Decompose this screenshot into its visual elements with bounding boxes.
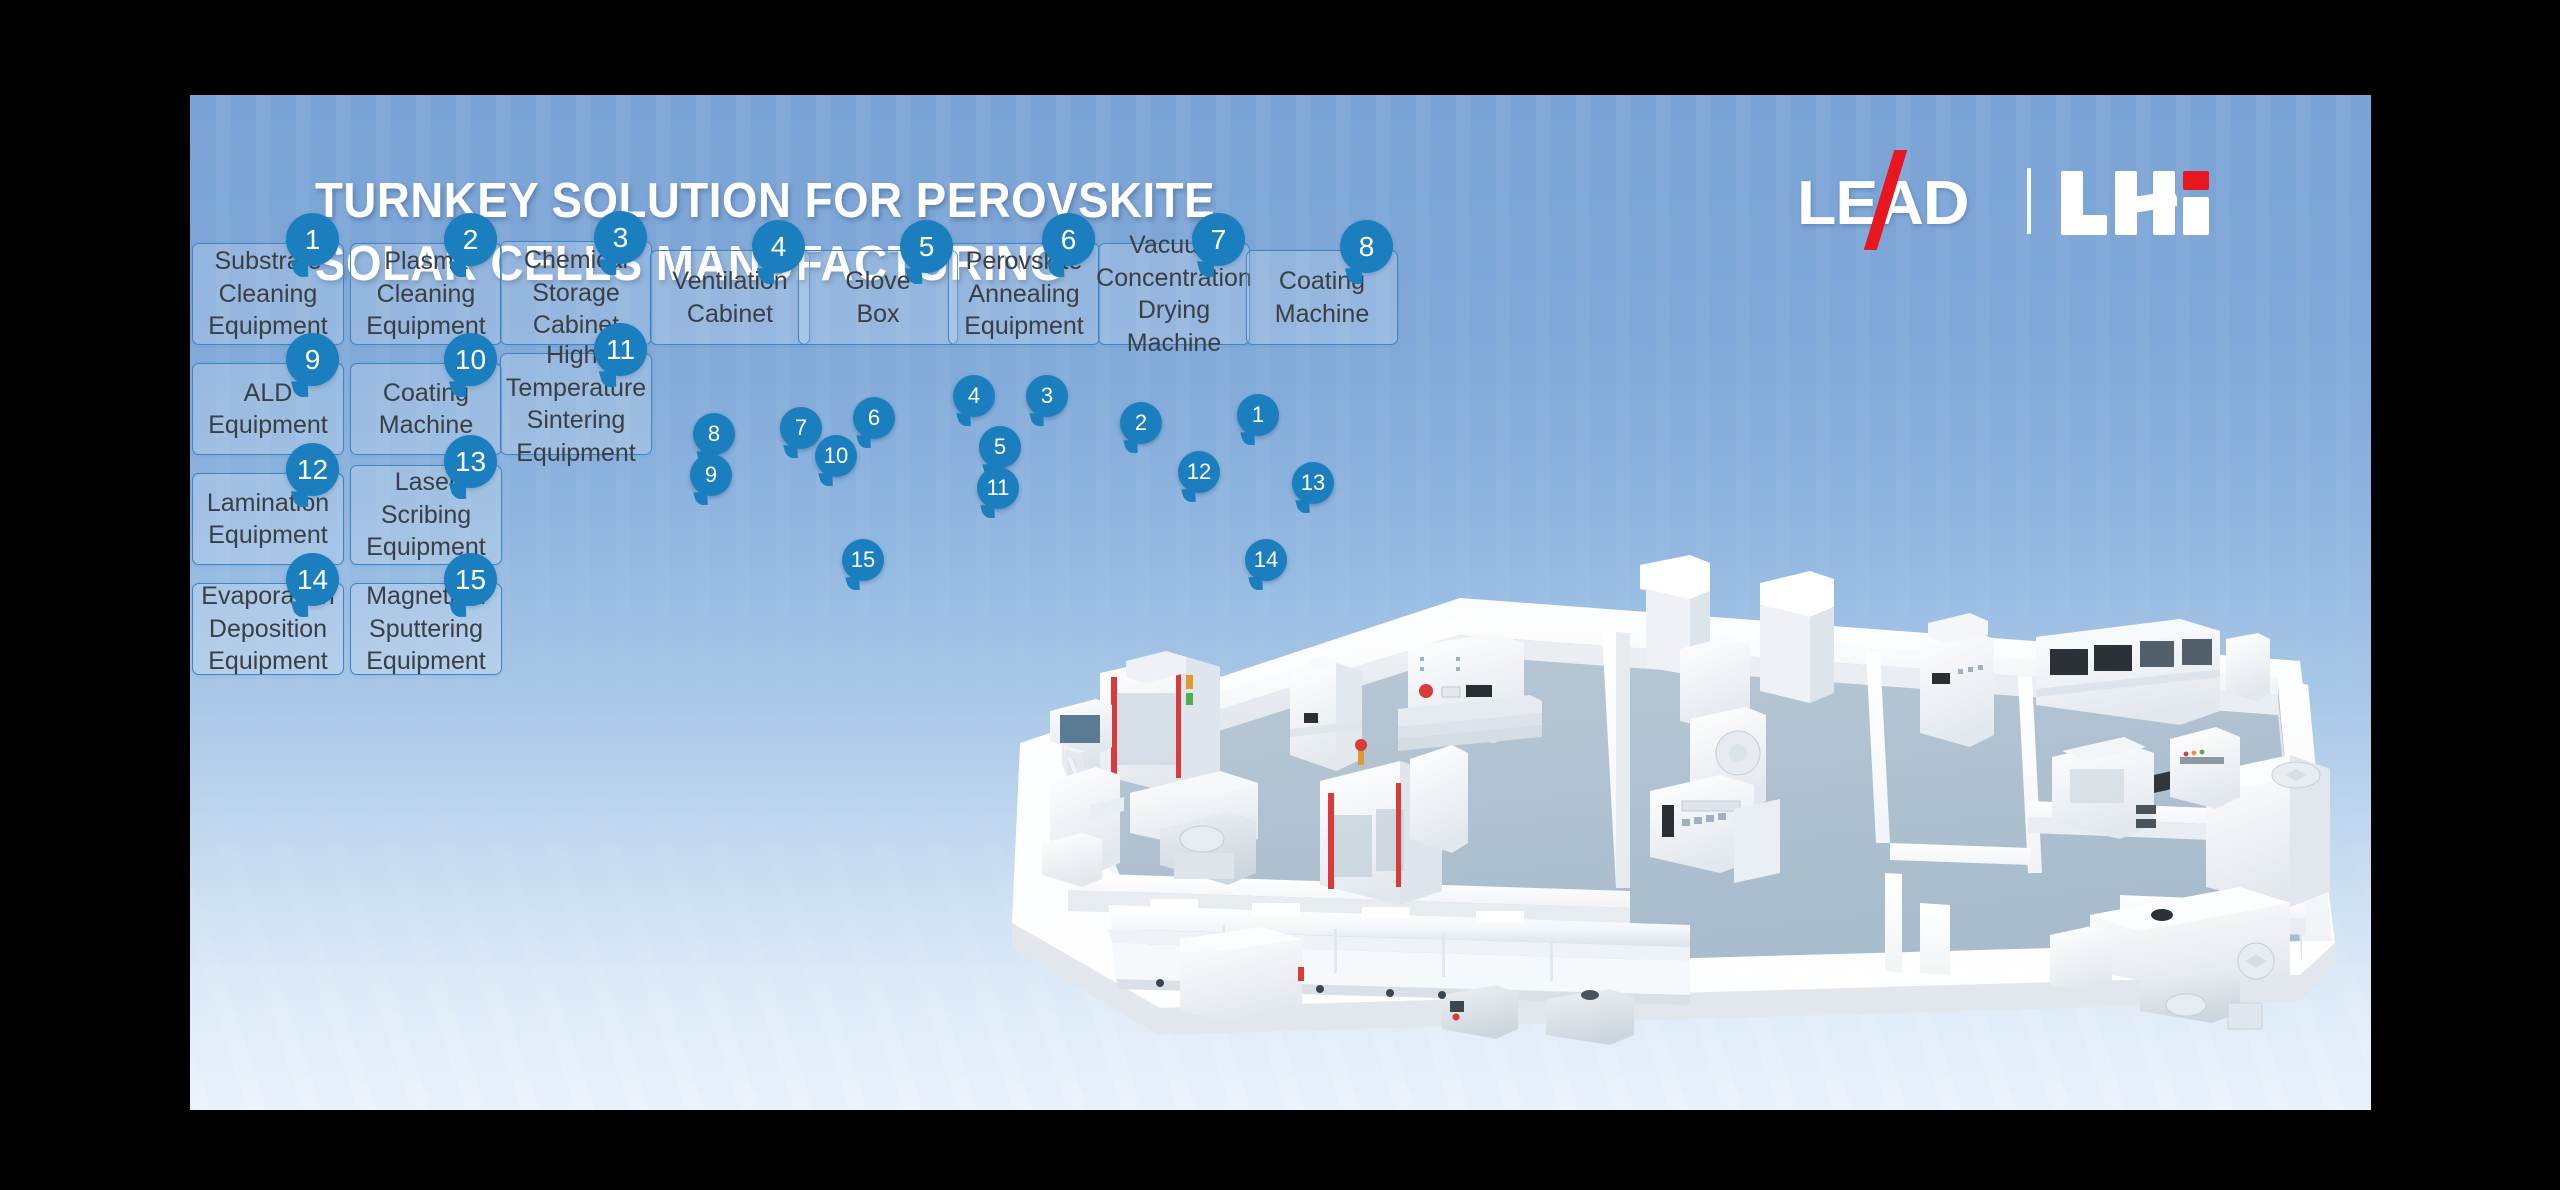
- legend-badge-12[interactable]: 12: [286, 443, 339, 496]
- floorplan-pin-6[interactable]: 6: [853, 397, 895, 439]
- legend-badge-number: 15: [455, 564, 486, 596]
- floorplan-pin-5[interactable]: 5: [979, 426, 1021, 468]
- legend-badge-number: 10: [455, 344, 486, 376]
- legend-badge-13[interactable]: 13: [444, 435, 497, 488]
- legend-badge-number: 14: [297, 564, 328, 596]
- lhi-letter-l-foot: [2061, 215, 2107, 235]
- floorplan-pin-2[interactable]: 2: [1120, 402, 1162, 444]
- lhi-letter-i-stem: [2183, 197, 2209, 235]
- legend-badge-number: 3: [613, 222, 629, 254]
- floorplan-pin-number: 13: [1301, 470, 1325, 496]
- floorplan-pin-1[interactable]: 1: [1237, 394, 1279, 436]
- legend-badge-11[interactable]: 11: [594, 323, 647, 376]
- legend-item-label: Glove Box: [845, 265, 910, 330]
- floorplan-pin-number: 1: [1252, 402, 1264, 428]
- floorplan-pin-number: 14: [1254, 547, 1278, 573]
- floorplan-pin-3[interactable]: 3: [1026, 375, 1068, 417]
- floorplan-pin-12[interactable]: 12: [1178, 451, 1220, 493]
- legend-badge-number: 1: [305, 224, 321, 256]
- legend-badge-number: 7: [1211, 224, 1227, 256]
- floorplan-pin-number: 12: [1187, 459, 1211, 485]
- floorplan-pin-number: 3: [1041, 383, 1053, 409]
- floorplan-pin-number: 4: [968, 383, 980, 409]
- legend-badge-9[interactable]: 9: [286, 333, 339, 386]
- legend-badge-8[interactable]: 8: [1340, 220, 1393, 273]
- floorplan-pin-8[interactable]: 8: [693, 413, 735, 455]
- legend-badge-number: 5: [919, 231, 935, 263]
- legend-badge-number: 2: [463, 224, 479, 256]
- legend-badge-number: 11: [606, 334, 635, 366]
- partition-stub-b: [1920, 903, 1950, 975]
- floorplan-pin-15[interactable]: 15: [842, 539, 884, 581]
- floorplan-pin-9[interactable]: 9: [690, 454, 732, 496]
- floorplan-pin-13[interactable]: 13: [1292, 462, 1334, 504]
- machine-7: [1290, 655, 1362, 771]
- floorplan-pin-4[interactable]: 4: [953, 375, 995, 417]
- content-panel: TURNKEY SOLUTION FOR PEROVSKITE SOLAR CE…: [190, 95, 2371, 1110]
- legend-badge-6[interactable]: 6: [1042, 213, 1095, 266]
- legend-badge-number: 13: [455, 446, 486, 478]
- legend-badge-5[interactable]: 5: [900, 220, 953, 273]
- screenshot-root: TURNKEY SOLUTION FOR PEROVSKITE SOLAR CE…: [0, 0, 2560, 1190]
- brand-logo: LEAD: [1797, 155, 2209, 247]
- legend-badge-3[interactable]: 3: [594, 211, 647, 264]
- legend-badge-number: 4: [771, 231, 787, 263]
- legend-item-label: Lamination Equipment: [207, 487, 329, 552]
- floorplan-pin-number: 15: [851, 547, 875, 573]
- legend-badge-7[interactable]: 7: [1192, 213, 1245, 266]
- floorplan-pin-number: 8: [708, 421, 720, 447]
- floorplan-pin-11[interactable]: 11: [977, 467, 1019, 509]
- logo-divider: [2027, 168, 2031, 234]
- legend-badge-number: 8: [1359, 231, 1375, 263]
- factory-floorplan-illustration: 123456789101112131415: [990, 543, 2370, 1063]
- floorplan-pin-number: 6: [868, 405, 880, 431]
- legend-badge-number: 6: [1061, 224, 1077, 256]
- legend-item-label: ALD Equipment: [208, 377, 328, 442]
- legend-badge-14[interactable]: 14: [286, 553, 339, 606]
- floorplan-pin-number: 2: [1135, 410, 1147, 436]
- legend-badge-2[interactable]: 2: [444, 213, 497, 266]
- machine-3: [1760, 571, 1834, 703]
- machine-6: [1398, 633, 1542, 751]
- lhi-letter-i-dot: [2183, 171, 2209, 190]
- floorplan-pin-number: 11: [987, 475, 1010, 501]
- floorplan-pin-number: 10: [824, 443, 848, 469]
- floorplan-pin-10[interactable]: 10: [815, 435, 857, 477]
- floorplan-pin-number: 9: [705, 462, 717, 488]
- lhi-logo: [2061, 165, 2209, 237]
- partition-stub-a: [1885, 873, 1902, 973]
- legend-badge-1[interactable]: 1: [286, 213, 339, 266]
- floorplan-svg: [990, 543, 2370, 1063]
- machine-2: [1920, 613, 1994, 747]
- legend-badge-4[interactable]: 4: [752, 220, 805, 273]
- floorplan-pin-7[interactable]: 7: [780, 407, 822, 449]
- lead-logo: LEAD: [1797, 162, 1997, 240]
- floorplan-pin-number: 7: [795, 415, 807, 441]
- legend-badge-10[interactable]: 10: [444, 333, 497, 386]
- legend-badge-number: 9: [305, 344, 321, 376]
- legend-badge-15[interactable]: 15: [444, 553, 497, 606]
- legend-badge-number: 12: [297, 454, 328, 486]
- floorplan-pin-number: 5: [994, 434, 1006, 460]
- floorplan-pin-14[interactable]: 14: [1245, 539, 1287, 581]
